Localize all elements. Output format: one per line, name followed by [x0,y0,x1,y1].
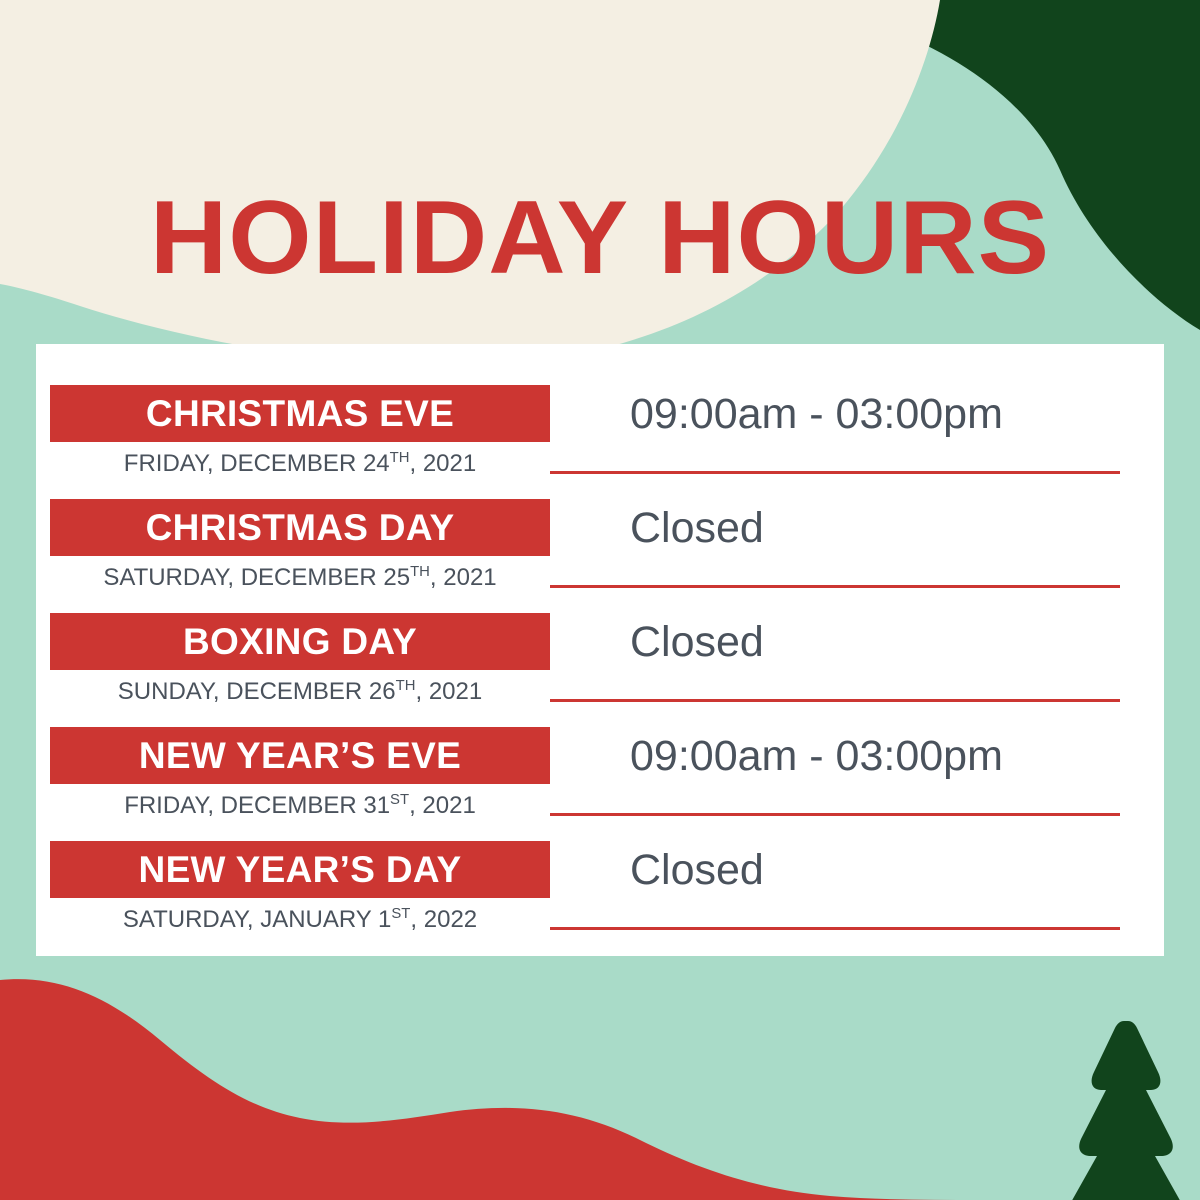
holiday-name-label: NEW YEAR’S DAY [139,851,462,888]
holiday-date-suffix: , 2022 [410,906,477,933]
row-underline [550,471,1120,474]
holiday-date-prefix: SATURDAY, JANUARY 1 [123,906,392,933]
schedule-card: CHRISTMAS EVE FRIDAY, DECEMBER 24TH, 202… [36,344,1164,956]
holiday-date: FRIDAY, DECEMBER 24TH, 2021 [50,450,550,478]
holiday-name-badge: CHRISTMAS DAY [50,499,550,556]
holiday-name-label: CHRISTMAS DAY [146,509,455,546]
holiday-hours-value: Closed [630,500,1150,556]
holiday-name-badge: NEW YEAR’S EVE [50,727,550,784]
holiday-date: SUNDAY, DECEMBER 26TH, 2021 [50,678,550,706]
holiday-date-prefix: FRIDAY, DECEMBER 24 [124,450,390,477]
holiday-name-label: CHRISTMAS EVE [146,395,454,432]
holiday-hours-value: Closed [630,842,1150,898]
schedule-row: CHRISTMAS DAY SATURDAY, DECEMBER 25TH, 2… [36,488,1164,602]
holiday-hours-poster: HOLIDAY HOURS CHRISTMAS EVE FRIDAY, DECE… [0,0,1200,1200]
holiday-date-ordinal: TH [390,450,410,466]
holiday-date-prefix: SATURDAY, DECEMBER 25 [103,564,410,591]
schedule-row: BOXING DAY SUNDAY, DECEMBER 26TH, 2021 C… [36,602,1164,716]
schedule-rows: CHRISTMAS EVE FRIDAY, DECEMBER 24TH, 202… [36,344,1164,956]
holiday-date-ordinal: TH [410,564,430,580]
holiday-name-label: NEW YEAR’S EVE [139,737,461,774]
holiday-name-label: BOXING DAY [183,623,417,660]
row-underline [550,927,1120,930]
holiday-date: SATURDAY, JANUARY 1ST, 2022 [50,906,550,934]
holiday-hours-value: 09:00am - 03:00pm [630,728,1150,784]
holiday-name-badge: NEW YEAR’S DAY [50,841,550,898]
holiday-date-ordinal: TH [396,678,416,694]
page-title: HOLIDAY HOURS [0,186,1200,290]
holiday-date-suffix: , 2021 [415,678,482,705]
schedule-row: NEW YEAR’S EVE FRIDAY, DECEMBER 31ST, 20… [36,716,1164,830]
holiday-date-suffix: , 2021 [409,450,476,477]
holiday-hours-value: 09:00am - 03:00pm [630,386,1150,442]
holiday-date-prefix: SUNDAY, DECEMBER 26 [118,678,396,705]
holiday-date: SATURDAY, DECEMBER 25TH, 2021 [50,564,550,592]
holiday-date-suffix: , 2021 [409,792,476,819]
holiday-name-badge: CHRISTMAS EVE [50,385,550,442]
holiday-date-ordinal: ST [391,906,410,922]
holiday-date-suffix: , 2021 [430,564,497,591]
row-underline [550,585,1120,588]
holiday-hours-value: Closed [630,614,1150,670]
holiday-date-prefix: FRIDAY, DECEMBER 31 [124,792,390,819]
row-underline [550,813,1120,816]
schedule-row: NEW YEAR’S DAY SATURDAY, JANUARY 1ST, 20… [36,830,1164,944]
schedule-row: CHRISTMAS EVE FRIDAY, DECEMBER 24TH, 202… [36,374,1164,488]
row-underline [550,699,1120,702]
holiday-date: FRIDAY, DECEMBER 31ST, 2021 [50,792,550,820]
holiday-name-badge: BOXING DAY [50,613,550,670]
holiday-date-ordinal: ST [390,792,409,808]
